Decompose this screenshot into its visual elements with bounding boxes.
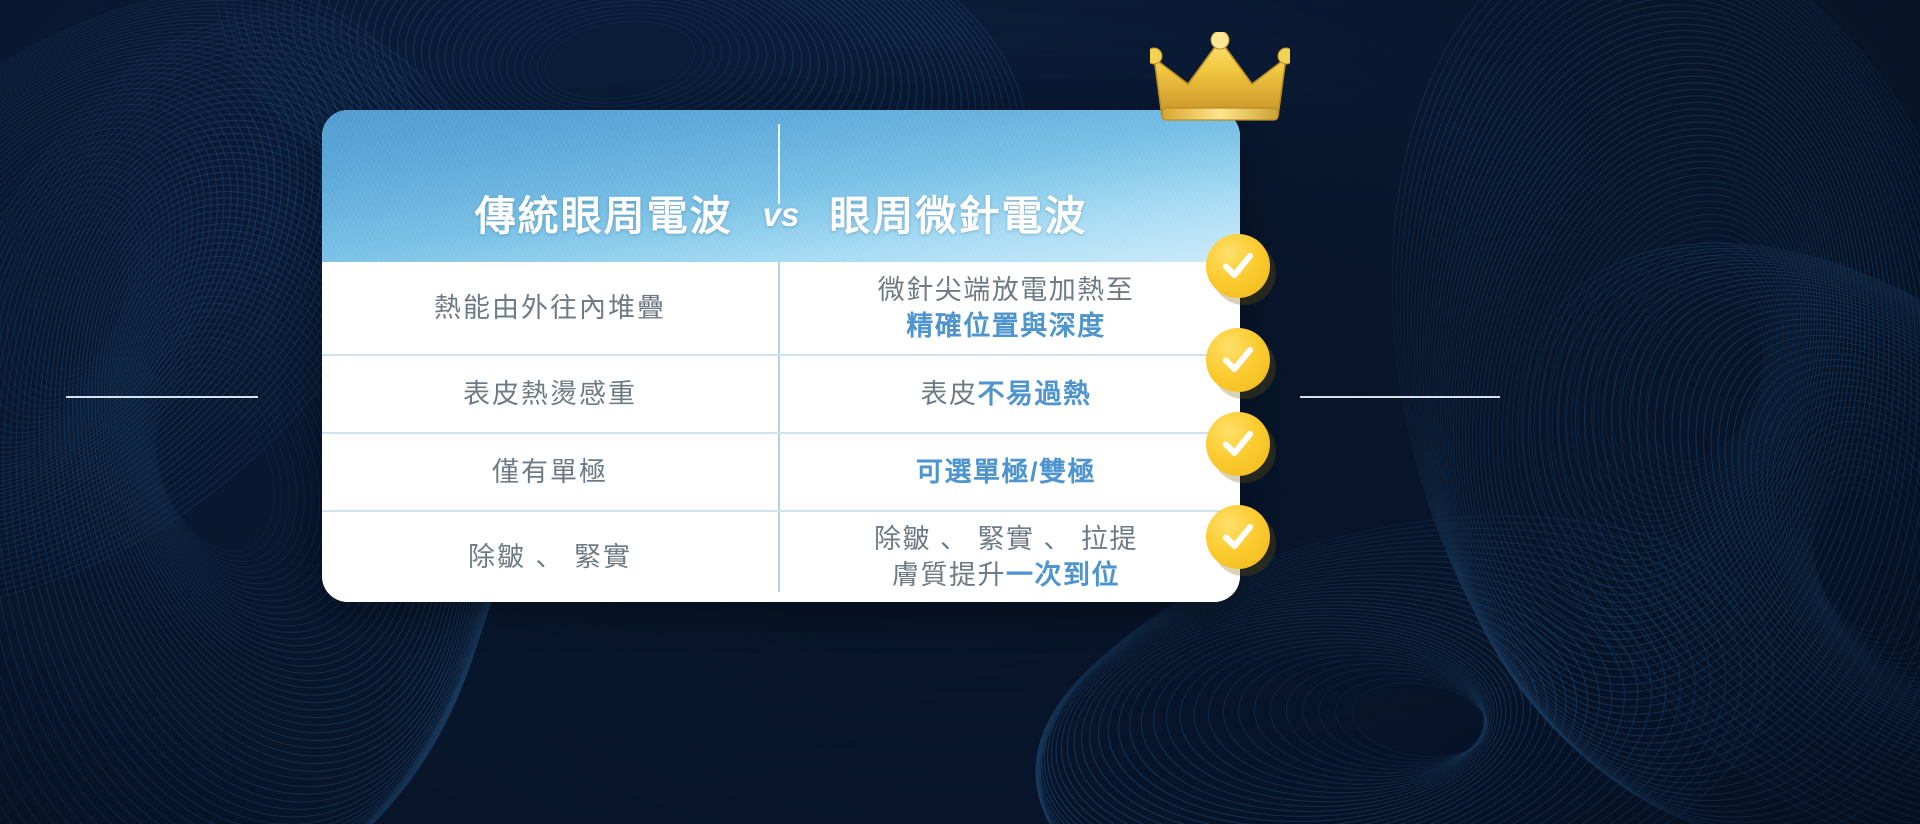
row-3-right-highlight: 可選單極/雙極 <box>916 454 1096 490</box>
row-1-right-cell: 微針尖端放電加熱至 精確位置與深度 <box>778 272 1234 344</box>
row-1-right-line-1: 微針尖端放電加熱至 <box>878 272 1135 308</box>
check-icon <box>1219 341 1257 379</box>
row-2-right-line: 表皮不易過熱 <box>921 376 1092 412</box>
row-4-right-line-1: 除皺 、 緊實 、 拉提 <box>874 521 1138 557</box>
check-badge-row-1 <box>1206 234 1270 298</box>
row-2-left-cell: 表皮熱燙感重 <box>322 376 778 412</box>
row-3-left-cell: 僅有單極 <box>322 454 778 490</box>
row-1-left-cell: 熱能由外往內堆疊 <box>322 290 778 326</box>
check-icon <box>1219 247 1257 285</box>
row-1-right-line-2-highlight: 精確位置與深度 <box>906 308 1106 344</box>
row-4-right-highlight: 一次到位 <box>1006 560 1120 590</box>
check-icon <box>1219 518 1257 556</box>
table-row: 表皮熱燙感重 表皮不易過熱 <box>322 354 1240 432</box>
comparison-table: 熱能由外往內堆疊 微針尖端放電加熱至 精確位置與深度 表皮熱燙感重 表皮不易過熱… <box>322 262 1240 602</box>
row-3-right-cell: 可選單極/雙極 <box>778 454 1234 490</box>
row-4-right-prefix: 膚質提升 <box>892 560 1006 590</box>
check-icon <box>1219 425 1257 463</box>
row-4-left-cell: 除皺 、 緊實 <box>322 539 778 575</box>
crown-icon <box>1150 32 1290 124</box>
title-right: 眼周微針電波 <box>829 182 1087 242</box>
comparison-card: 傳統眼周電波 vs 眼周微針電波 熱能由外往內堆疊 微針尖端放電加熱至 精確位置… <box>322 110 1240 602</box>
title-left: 傳統眼周電波 <box>475 182 733 242</box>
row-2-right-cell: 表皮不易過熱 <box>778 376 1234 412</box>
decor-rule-right <box>1300 396 1500 398</box>
row-4-right-line-2: 膚質提升一次到位 <box>892 557 1120 593</box>
card-header: 傳統眼周電波 vs 眼周微針電波 <box>322 110 1240 262</box>
decor-rule-left <box>66 396 258 398</box>
check-badge-row-3 <box>1206 412 1270 476</box>
table-row: 熱能由外往內堆疊 微針尖端放電加熱至 精確位置與深度 <box>322 262 1240 354</box>
check-badge-row-4 <box>1206 505 1270 569</box>
title-vs: vs <box>763 196 800 234</box>
row-2-right-highlight: 不易過熱 <box>978 379 1092 409</box>
row-4-right-cell: 除皺 、 緊實 、 拉提 膚質提升一次到位 <box>778 521 1234 593</box>
table-row: 除皺 、 緊實 除皺 、 緊實 、 拉提 膚質提升一次到位 <box>322 510 1240 602</box>
card-title-row: 傳統眼周電波 vs 眼周微針電波 <box>322 162 1240 262</box>
table-row: 僅有單極 可選單極/雙極 <box>322 432 1240 510</box>
row-2-right-prefix: 表皮 <box>921 379 978 409</box>
check-badge-row-2 <box>1206 328 1270 392</box>
